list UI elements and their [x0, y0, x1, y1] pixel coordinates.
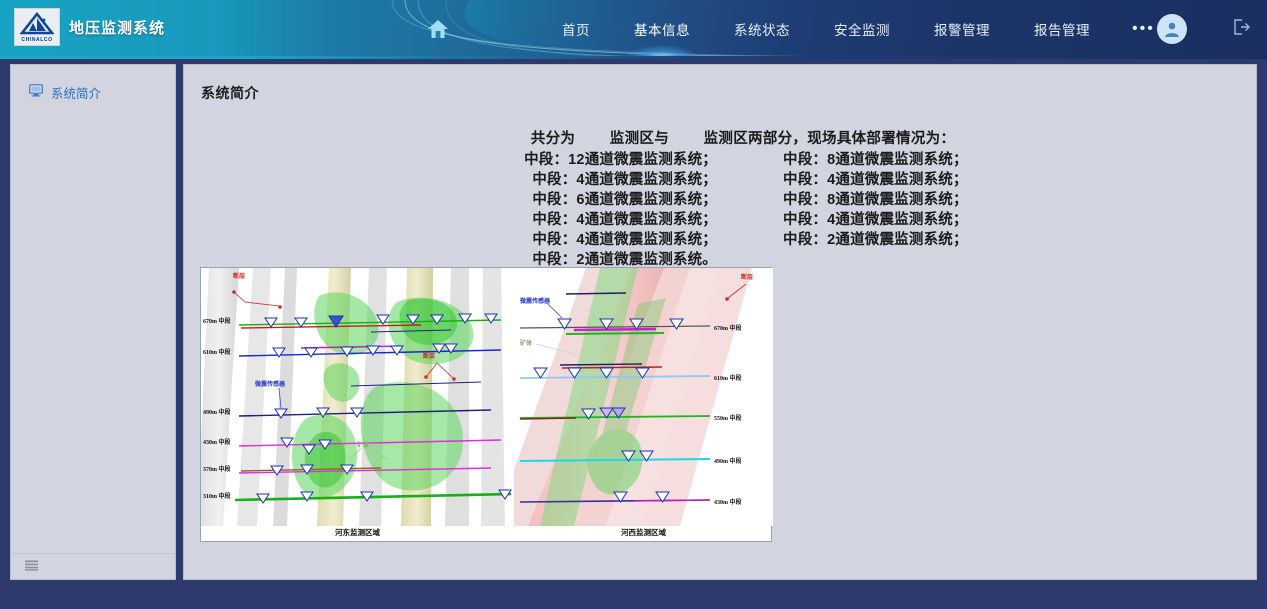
- nav-item-1[interactable]: 基本信息: [612, 0, 712, 58]
- level-label-west-430: 430m 中段: [714, 497, 742, 506]
- nav-label: 基本信息: [634, 19, 690, 39]
- level-label-east-370: 370m 中段: [203, 464, 231, 473]
- annotation-ore-east: 矿体: [357, 440, 369, 449]
- main-nav: 首页 基本信息 系统状态 安全监测 报警管理 报告管理 •••: [540, 0, 1175, 58]
- intro-row: 中段：4通道微震监测系统； 中段：2通道微震监测系统；: [184, 230, 1257, 250]
- level-label-west-490: 490m 中段: [714, 456, 742, 465]
- intro-cell-left: 中段：12通道微震监测系统；: [493, 150, 721, 170]
- intro-cell-right: 中段：2通道微震监测系统；: [721, 230, 949, 250]
- page-title: 系统简介: [201, 83, 259, 103]
- intro-cell-left: 中段：4通道微震监测系统；: [493, 210, 721, 230]
- figure-panes: 断层 断层 微震传感器 矿体 670m 中段 610m 中段 490m 中段 4…: [201, 268, 773, 526]
- level-label-east-430: 430m 中段: [203, 437, 231, 446]
- sidebar-item-system-intro[interactable]: 系统简介: [11, 79, 175, 106]
- nav-item-3[interactable]: 安全监测: [812, 0, 912, 58]
- header-gap: [0, 59, 1267, 62]
- intro-cell-left: 中段：4通道微震监测系统；: [493, 230, 721, 250]
- east-mine-diagram: [201, 268, 514, 526]
- nav-item-2[interactable]: 系统状态: [712, 0, 812, 58]
- annotation-sensor-east: 微震传感器: [255, 379, 285, 388]
- hamburger-collapse-icon[interactable]: [25, 558, 38, 576]
- user-avatar-icon[interactable]: [1157, 14, 1187, 44]
- page-body: 系统简介 系统简介 共分为 监测区与 监测区两部分，现场具体部署情况为：: [0, 62, 1267, 609]
- annotation-sensor-west: 微震传感器: [520, 296, 550, 305]
- chinalco-logo: CHINALCO: [14, 8, 60, 46]
- nav-item-4[interactable]: 报警管理: [912, 0, 1012, 58]
- content-panel: 系统简介 共分为 监测区与 监测区两部分，现场具体部署情况为： 中段：12通道微…: [183, 64, 1257, 580]
- figure-pane-east: 断层 断层 微震传感器 矿体 670m 中段 610m 中段 490m 中段 4…: [201, 268, 514, 526]
- figure-caption-east: 河东监测区域: [201, 527, 514, 538]
- logo-wordmark: CHINALCO: [21, 37, 52, 43]
- intro-row: 中段：12通道微震监测系统； 中段：8通道微震监测系统；: [184, 150, 1257, 170]
- nav-label: 报警管理: [934, 19, 990, 39]
- brand: CHINALCO 地压监测系统: [14, 8, 165, 46]
- level-label-west-550: 550m 中段: [714, 413, 742, 422]
- monitor-icon: [29, 84, 43, 102]
- nav-item-5[interactable]: 报告管理: [1012, 0, 1112, 58]
- intro-row: 中段：6通道微震监测系统； 中段：8通道微震监测系统；: [184, 190, 1257, 210]
- sidebar-item-label: 系统简介: [51, 83, 101, 102]
- level-label-east-490: 490m 中段: [203, 407, 231, 416]
- annotation-fault-east-1: 断层: [233, 271, 245, 280]
- level-label-east-670: 670m 中段: [203, 316, 231, 325]
- nav-label: 安全监测: [834, 19, 890, 39]
- chinalco-logo-mark: [20, 12, 54, 36]
- annotation-fault-west: 断层: [741, 272, 753, 281]
- nav-label: •••: [1132, 20, 1155, 38]
- logout-icon[interactable]: [1231, 17, 1251, 42]
- intro-row: 中段：4通道微震监测系统； 中段：4通道微震监测系统；: [184, 170, 1257, 190]
- intro-cell-left: 中段：4通道微震监测系统；: [493, 170, 721, 190]
- home-icon[interactable]: [427, 19, 449, 44]
- nav-label: 报告管理: [1034, 19, 1090, 39]
- intro-text-block: 共分为 监测区与 监测区两部分，现场具体部署情况为： 中段：12通道微震监测系统…: [184, 129, 1257, 270]
- nav-label: 系统状态: [734, 19, 790, 39]
- figure-pane-west: 断层 微震传感器 矿体 670m 中段 610m 中段 550m 中段 490m…: [514, 268, 773, 526]
- intro-headline: 共分为 监测区与 监测区两部分，现场具体部署情况为：: [184, 129, 1257, 149]
- mine-monitoring-figure: 断层 断层 微震传感器 矿体 670m 中段 610m 中段 490m 中段 4…: [200, 267, 772, 542]
- level-label-east-310: 310m 中段: [203, 491, 231, 500]
- intro-cell-right: 中段：8通道微震监测系统；: [721, 190, 949, 210]
- sidebar: 系统简介: [10, 64, 176, 580]
- annotation-ore-west: 矿体: [520, 338, 532, 347]
- figure-caption-west: 河西监测区域: [514, 527, 773, 538]
- app-header: CHINALCO 地压监测系统 首页 基本信息 系统状态 安全监测 报警管理 报…: [0, 0, 1267, 58]
- level-label-west-610: 610m 中段: [714, 373, 742, 382]
- level-label-east-610: 610m 中段: [203, 347, 231, 356]
- sidebar-list: 系统简介: [11, 65, 175, 553]
- annotation-fault-east-2: 断层: [423, 351, 435, 360]
- app-title: 地压监测系统: [69, 17, 165, 38]
- nav-item-0[interactable]: 首页: [540, 0, 612, 58]
- intro-row: 中段：4通道微震监测系统； 中段：4通道微震监测系统；: [184, 210, 1257, 230]
- west-mine-diagram: [514, 268, 773, 526]
- intro-cell-right: 中段：8通道微震监测系统；: [721, 150, 949, 170]
- header-right-actions: [1157, 0, 1251, 58]
- intro-cell-left: 中段：6通道微震监测系统；: [493, 190, 721, 210]
- nav-label: 首页: [562, 19, 590, 39]
- intro-cell-right: 中段：4通道微震监测系统；: [721, 170, 949, 190]
- sidebar-footer: [11, 553, 175, 579]
- intro-cell-right: 中段：4通道微震监测系统；: [721, 210, 949, 230]
- level-label-west-670: 670m 中段: [714, 323, 742, 332]
- intro-rows: 中段：12通道微震监测系统； 中段：8通道微震监测系统； 中段：4通道微震监测系…: [184, 150, 1257, 270]
